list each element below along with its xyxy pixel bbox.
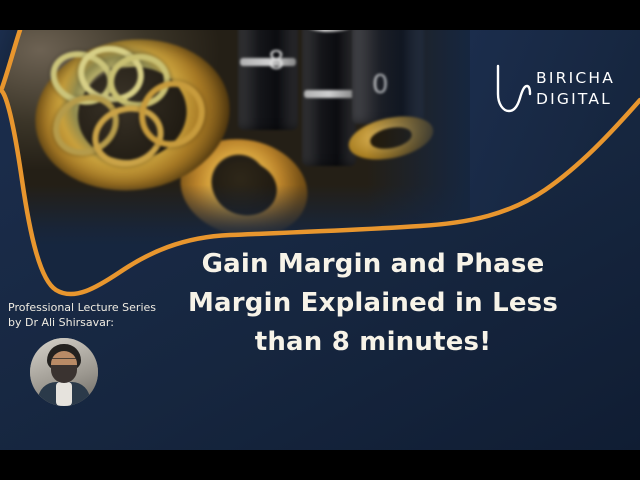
avatar-shirt: [56, 382, 72, 406]
letterbox-bar-top: [0, 0, 640, 30]
video-thumbnail: 8 0: [0, 0, 640, 480]
avatar: [30, 338, 98, 406]
avatar-glasses-icon: [51, 358, 77, 367]
thumbnail-stage: 8 0: [0, 30, 640, 450]
page-title: Gain Margin and Phase Margin Explained i…: [168, 245, 578, 362]
letterbox-bar-bottom: [0, 450, 640, 480]
title-line-1: Gain Margin and Phase: [168, 245, 578, 284]
waveform-icon: [492, 64, 532, 120]
title-line-3: than 8 minutes!: [168, 323, 578, 362]
logo-text: BIRICHA DIGITAL: [536, 68, 615, 110]
logo-line-1: BIRICHA: [536, 68, 615, 89]
lecturer-line-2: by Dr Ali Shirsavar:: [8, 315, 158, 330]
logo-line-2: DIGITAL: [536, 89, 615, 110]
brand-logo: BIRICHA DIGITAL: [492, 58, 622, 130]
lecturer-credit: Professional Lecture Series by Dr Ali Sh…: [8, 300, 158, 406]
title-line-2: Margin Explained in Less: [168, 284, 578, 323]
lecturer-line-1: Professional Lecture Series: [8, 300, 158, 315]
